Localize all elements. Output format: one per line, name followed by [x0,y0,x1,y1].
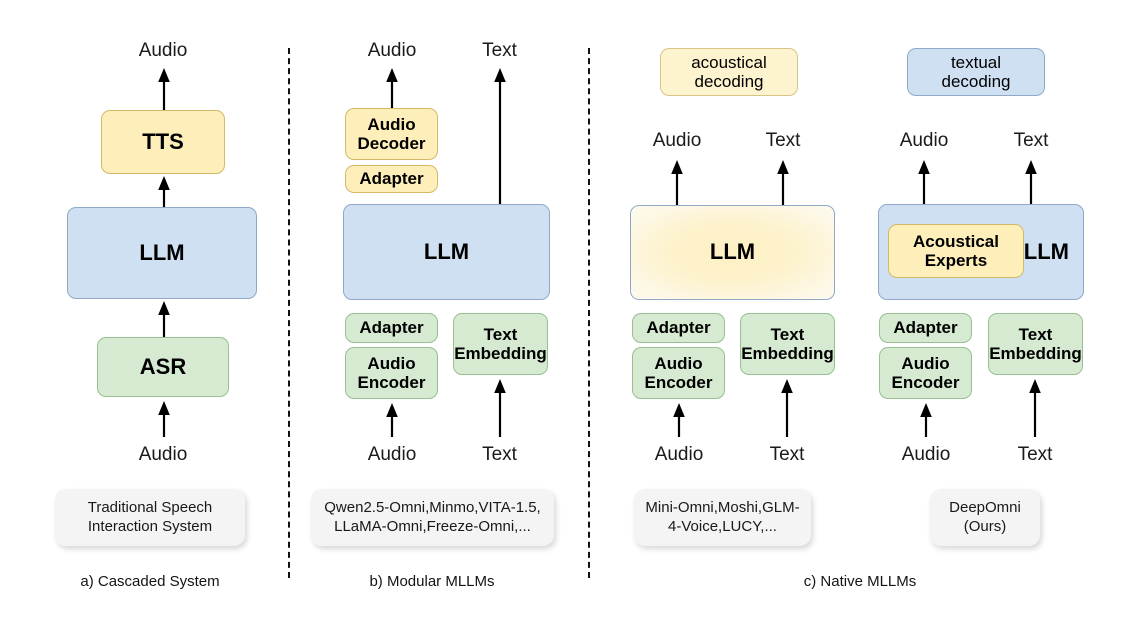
panel-c-right-block-audio-encoder[interactable]: Audio Encoder [879,347,972,399]
panel-c-left-arrow-input-text-to-embedding [778,379,796,437]
panel-c-right-block-acoustical-experts[interactable]: Acoustical Experts [888,224,1024,278]
panel-c-right-arrow-input-audio-to-encoder [917,403,935,437]
panel-b-block-llm[interactable]: LLM [343,204,550,300]
panel-b-caption: b) Modular MLLMs [322,573,542,590]
panel-b-input-text-label: Text [462,444,537,466]
panel-c-left-block-text-embedding[interactable]: Text Embedding [740,313,835,375]
panel-c-right-arrow-input-text-to-embedding [1026,379,1044,437]
panel-a-block-tts[interactable]: TTS [101,110,225,174]
panel-c-right-block-adapter[interactable]: Adapter [879,313,972,343]
panel-a-arrow-asr-to-llm [155,301,173,337]
panel-c-right-output-audio-label: Audio [884,130,964,152]
panel-b-block-audio-encoder[interactable]: Audio Encoder [345,347,438,399]
panel-a-arrow-input-audio-to-asr [155,401,173,437]
panel-c-left-block-adapter[interactable]: Adapter [632,313,725,343]
panel-c-right-llm-label: LLM [1024,240,1069,265]
panel-b-arrow-input-audio-to-encoder [383,403,401,437]
panel-c-right-arrow-llm-to-audio [915,160,933,205]
panel-c-caption: c) Native MLLMs [750,573,970,590]
panel-c-right-arrow-llm-to-text [1022,160,1040,205]
panel-b-arrow-input-text-to-embedding [491,379,509,437]
panel-b-block-adapter-out[interactable]: Adapter [345,165,438,193]
figure-canvas: Audio TTS LLM ASR Audio Traditional Spee… [0,0,1141,637]
panel-c-left-arrow-llm-to-text [774,160,792,206]
panel-b-arrow-audiodecoder-to-audio [383,68,401,108]
panel-c-left-chip: Mini-Omni,Moshi,GLM- 4-Voice,LUCY,... [634,489,811,546]
panel-c-left-banner-acoustical-decoding: acoustical decoding [660,48,798,96]
panel-b-arrow-llm-to-text [491,68,509,208]
panel-b-input-audio-label: Audio [347,444,437,466]
panel-a-arrow-tts-to-audio [155,68,173,110]
panel-a-caption: a) Cascaded System [40,573,260,590]
panel-b-block-audio-decoder[interactable]: Audio Decoder [345,108,438,160]
panel-c-left-arrow-llm-to-audio [668,160,686,206]
panel-a-arrow-llm-to-tts [155,176,173,208]
panel-c-right-input-audio-label: Audio [886,444,966,466]
panel-c-left-input-audio-label: Audio [639,444,719,466]
panel-b-output-audio-label: Audio [347,40,437,62]
panel-c-left-output-audio-label: Audio [637,130,717,152]
panel-c-left-arrow-input-audio-to-encoder [670,403,688,437]
panel-c-left-input-text-label: Text [756,444,818,466]
panel-c-left-output-text-label: Text [752,130,814,152]
panel-a-input-audio-label: Audio [101,444,225,466]
panel-b-block-text-embedding[interactable]: Text Embedding [453,313,548,375]
panel-c-right-output-text-label: Text [1000,130,1062,152]
panel-c-left-block-audio-encoder[interactable]: Audio Encoder [632,347,725,399]
panel-c-right-banner-textual-decoding: textual decoding [907,48,1045,96]
panel-c-left-block-llm[interactable]: LLM [630,205,835,300]
panel-a-output-audio-label: Audio [101,40,225,62]
panel-a-chip: Traditional Speech Interaction System [55,489,245,546]
panel-c-right-block-text-embedding[interactable]: Text Embedding [988,313,1083,375]
divider-a-b [288,48,290,578]
panel-c-right-input-text-label: Text [1004,444,1066,466]
panel-a-block-asr[interactable]: ASR [97,337,229,397]
panel-b-output-text-label: Text [462,40,537,62]
panel-b-chip: Qwen2.5-Omni,Minmo,VITA-1.5, LLaMA-Omni,… [311,489,554,546]
panel-b-block-adapter-in[interactable]: Adapter [345,313,438,343]
panel-a-block-llm[interactable]: LLM [67,207,257,299]
divider-b-c [588,48,590,578]
panel-c-right-chip: DeepOmni (Ours) [930,489,1040,546]
